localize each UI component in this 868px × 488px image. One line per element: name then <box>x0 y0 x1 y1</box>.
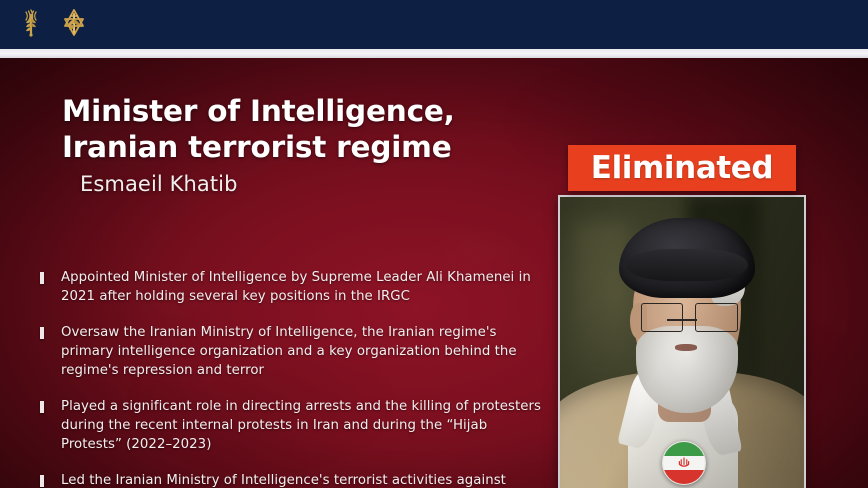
bullet-text: Led the Iranian Ministry of Intelligence… <box>61 471 545 488</box>
list-item: Oversaw the Iranian Ministry of Intellig… <box>40 323 545 380</box>
status-badge-label: Eliminated <box>591 153 773 184</box>
slide-body: Minister of Intelligence, Iranian terror… <box>0 58 868 488</box>
title-block: Minister of Intelligence, Iranian terror… <box>62 94 542 196</box>
bullet-marker-icon <box>40 475 44 487</box>
page-title: Minister of Intelligence, Iranian terror… <box>62 94 542 166</box>
subject-name: Esmaeil Khatib <box>80 172 542 196</box>
idf-insignia-emblem <box>56 6 92 40</box>
bullet-text: Oversaw the Iranian Ministry of Intellig… <box>61 323 545 380</box>
flag-stripe-white <box>663 456 705 470</box>
photo-card: Eliminated <box>554 133 810 488</box>
slide-root: Minister of Intelligence, Iranian terror… <box>0 0 868 488</box>
list-item: Led the Iranian Ministry of Intelligence… <box>40 471 545 488</box>
header-emblems <box>14 6 92 40</box>
bullet-text: Appointed Minister of Intelligence by Su… <box>61 268 545 306</box>
bullet-text: Played a significant role in directing a… <box>61 397 545 454</box>
iran-emblem-icon <box>678 457 691 469</box>
iran-flag-badge <box>662 441 706 485</box>
bullet-marker-icon <box>40 401 44 413</box>
bullet-marker-icon <box>40 272 44 284</box>
page-title-line-1: Minister of Intelligence, <box>62 94 455 128</box>
list-item: Appointed Minister of Intelligence by Su… <box>40 268 545 306</box>
list-item: Played a significant role in directing a… <box>40 397 545 454</box>
idf-intelligence-unit-emblem <box>14 6 48 40</box>
status-badge: Eliminated <box>568 145 796 191</box>
header-bar <box>0 0 868 49</box>
page-title-line-2: Iranian terrorist regime <box>62 130 452 164</box>
bullet-list: Appointed Minister of Intelligence by Su… <box>40 268 545 488</box>
header-divider <box>0 49 868 58</box>
bullet-marker-icon <box>40 327 44 339</box>
